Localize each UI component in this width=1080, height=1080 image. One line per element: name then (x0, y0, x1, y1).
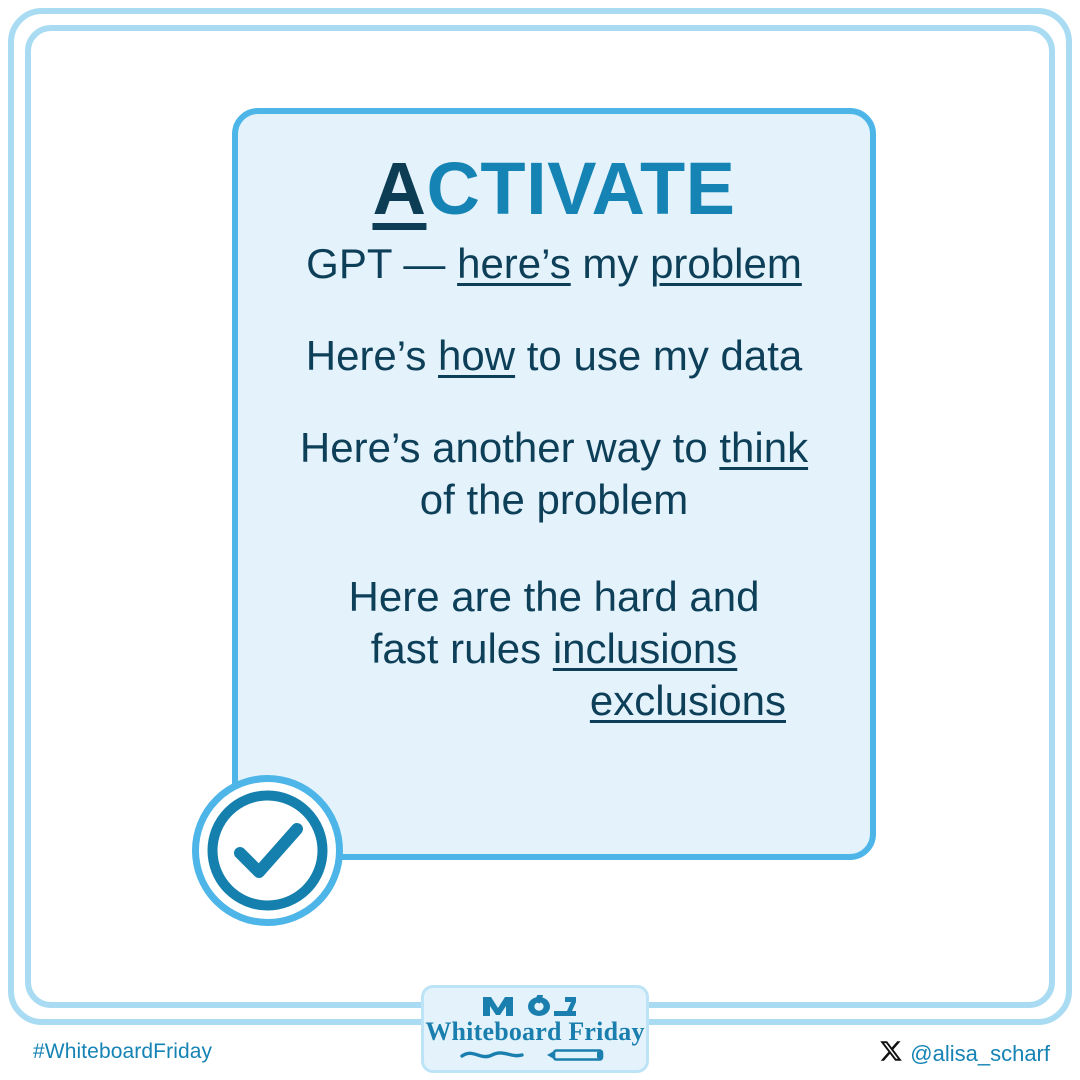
footer-hashtag: #WhiteboardFriday (33, 1040, 212, 1064)
title-first-letter: A (372, 147, 426, 230)
footer-handle-text: @alisa_scharf (910, 1041, 1050, 1067)
text-segment: GPT — (306, 240, 457, 287)
prompt-line-fast-rules-inclusions: fast rules inclusions (264, 623, 844, 675)
title-rest: CTIVATE (426, 147, 735, 230)
emphasis-inclusions: inclusions (553, 625, 737, 672)
prompt-line-gpt-problem: GPT — here’s my problem (264, 238, 844, 290)
text-segment: of the problem (420, 476, 689, 523)
check-circle-icon (190, 773, 345, 928)
activate-card: ACTIVATE GPT — here’s my problem Here’s … (232, 108, 876, 860)
emphasis-heres: here’s (457, 240, 571, 287)
text-segment: to use my data (515, 332, 802, 379)
prompt-line-exclusions: exclusions (264, 675, 844, 727)
text-segment: Here’s (306, 332, 438, 379)
prompt-line-of-the-problem: of the problem (264, 474, 844, 526)
prompt-line-another-way-think: Here’s another way to think (264, 422, 844, 474)
prompt-line-how-use-data: Here’s how to use my data (264, 330, 844, 382)
emphasis-problem: problem (650, 240, 802, 287)
text-segment: Here’s another way to (300, 424, 719, 471)
x-twitter-icon (879, 1039, 903, 1069)
wbf-doodle-icons (424, 1047, 646, 1065)
moz-logo-icon (424, 995, 646, 1017)
emphasis-exclusions: exclusions (590, 677, 786, 724)
text-segment: my (571, 240, 650, 287)
emphasis-think: think (719, 424, 808, 471)
prompt-line-hard-and: Here are the hard and (264, 571, 844, 623)
text-segment: fast rules (371, 625, 553, 672)
text-segment: Here are the hard and (349, 573, 760, 620)
page-title: ACTIVATE (264, 152, 844, 226)
moz-whiteboard-friday-badge: Whiteboard Friday (421, 985, 649, 1073)
emphasis-how: how (438, 332, 515, 379)
footer-handle-group: @alisa_scharf (879, 1039, 1050, 1069)
marker-icon (547, 1051, 603, 1060)
whiteboard-friday-title: Whiteboard Friday (424, 1018, 646, 1045)
